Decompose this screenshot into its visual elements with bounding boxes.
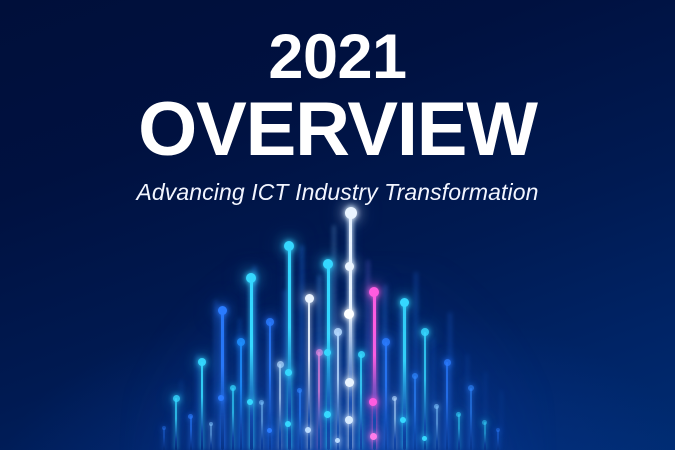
overview-poster: 2021 OVERVIEW Advancing ICT Industry Tra… bbox=[0, 0, 675, 450]
poster-subtitle: Advancing ICT Industry Transformation bbox=[0, 179, 675, 207]
streak-head-dot bbox=[284, 241, 294, 251]
streak-head-dot bbox=[345, 207, 357, 219]
poster-text-block: 2021 OVERVIEW Advancing ICT Industry Tra… bbox=[0, 26, 675, 206]
poster-title: OVERVIEW bbox=[0, 91, 675, 169]
poster-year: 2021 bbox=[0, 26, 675, 89]
center-glow bbox=[128, 260, 548, 450]
